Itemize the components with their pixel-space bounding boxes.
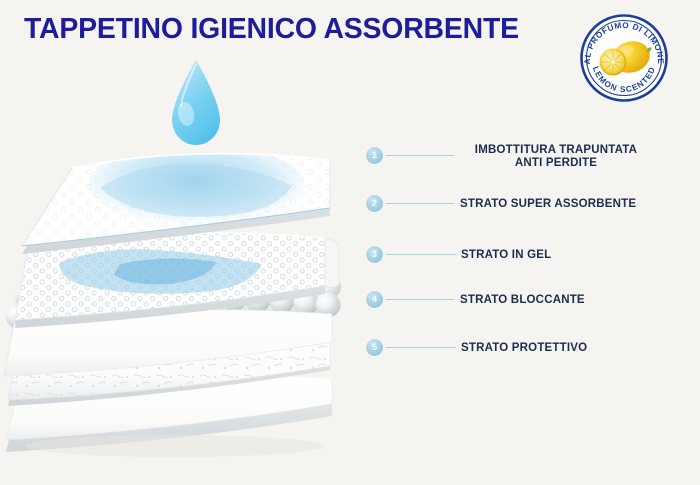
callout-number-5: 5 [366,339,383,356]
infographic-canvas: TAPPETINO IGIENICO ASSORBENTE [0,0,700,485]
callout-label-3: STRATO IN GEL [461,249,551,262]
water-droplet-icon [172,60,220,145]
callout-leader-line-3 [386,254,456,255]
callout-leader-line-2 [386,203,454,204]
callout-label-5: STRATO PROTETTIVO [461,342,587,355]
callout-number-2: 2 [366,195,383,212]
callout-number-1: 1 [366,147,383,164]
page-title: TAPPETINO IGIENICO ASSORBENTE [24,13,519,46]
layered-pad-illustration [0,48,380,478]
callout-label-1: IMBOTTITURA TRAPUNTATA ANTI PERDITE [460,144,652,170]
callout-label-4: STRATO BLOCCANTE [460,294,585,307]
callout-number-3: 3 [366,246,383,263]
callout-leader-line-5 [386,347,456,348]
callout-leader-line-1 [386,155,454,156]
callout-label-2: STRATO SUPER ASSORBENTE [460,198,636,211]
lemon-scented-badge: AL PROFUMO DI LIMONE LEMON SCENTED [578,12,670,104]
callout-leader-line-4 [386,299,454,300]
callout-number-4: 4 [366,291,383,308]
